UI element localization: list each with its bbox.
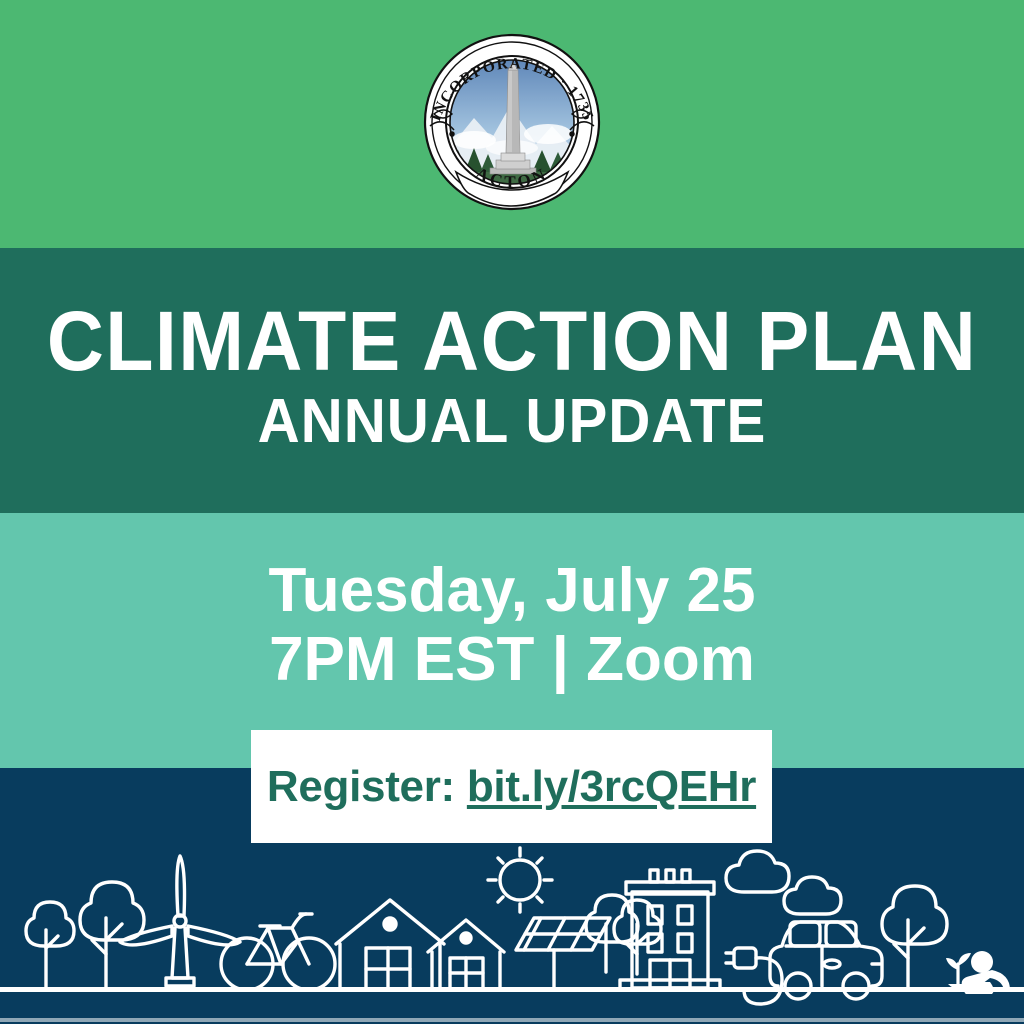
headline-block: CLIMATE ACTION PLAN ANNUAL UPDATE <box>0 300 1024 454</box>
solar-panel-icon <box>516 918 610 989</box>
ground-line <box>0 987 1024 992</box>
event-time-platform: 7PM EST | Zoom <box>0 625 1024 694</box>
sun-icon <box>488 848 552 912</box>
event-details: Tuesday, July 25 7PM EST | Zoom <box>0 556 1024 695</box>
apartment-building-icon <box>620 870 720 989</box>
house-large-icon <box>336 900 444 990</box>
ground-line-bottom <box>0 1018 1024 1022</box>
ev-charger-plug-icon <box>726 948 782 1004</box>
sustainability-scene <box>0 768 1024 1024</box>
event-date: Tuesday, July 25 <box>0 556 1024 625</box>
cloud-small-icon <box>784 877 841 914</box>
poster-canvas: INCORPORATED · 1735 ACTON CLIMATE ACTION… <box>0 0 1024 1024</box>
cloud-icon <box>726 851 789 892</box>
small-tree-icon <box>26 902 74 988</box>
page-title: CLIMATE ACTION PLAN <box>31 300 994 382</box>
tree-right-icon <box>882 886 947 990</box>
town-seal: INCORPORATED · 1735 ACTON <box>412 22 612 222</box>
page-subtitle: ANNUAL UPDATE <box>31 390 994 453</box>
bicycle-icon <box>221 914 335 990</box>
